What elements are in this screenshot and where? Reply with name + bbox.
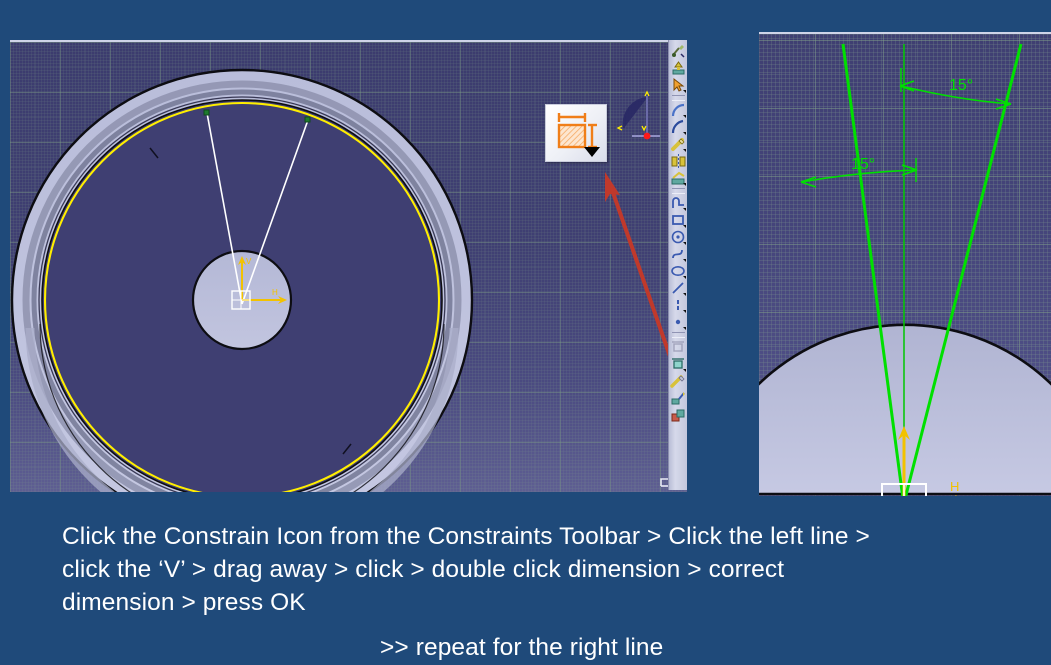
caption-block: Click the Constrain Icon from the Constr… [62, 520, 1002, 664]
tool-corner-icon[interactable] [670, 102, 687, 119]
caption-line-1: Click the Constrain Icon from the Constr… [62, 520, 1002, 553]
tool-select-icon[interactable] [670, 77, 687, 94]
tool-edit-multi-icon[interactable] [670, 390, 687, 407]
tool-trim-icon[interactable] [670, 136, 687, 153]
svg-text:H: H [272, 288, 278, 297]
caption-line-3: dimension > press OK [62, 586, 1002, 619]
tool-animate-icon[interactable] [670, 373, 687, 390]
caption-line-2: click the ‘V’ > drag away > click > doub… [62, 553, 1002, 586]
tool-profile-icon[interactable] [670, 195, 687, 212]
left-cad-viewport[interactable]: V H [10, 40, 687, 492]
angle-label-right: 15° [949, 77, 973, 94]
tool-project-3d-icon[interactable] [670, 170, 687, 187]
tool-ellipse-icon[interactable] [670, 263, 687, 280]
h-axis-label: H [950, 479, 959, 494]
angle-label-left: 15° [851, 156, 875, 173]
tool-output-feature-icon[interactable] [670, 60, 687, 77]
tool-constraint-icon[interactable] [670, 356, 687, 373]
tool-chamfer-icon[interactable] [670, 119, 687, 136]
toolbar-separator [672, 188, 685, 194]
toolbar-separator [672, 332, 685, 338]
tool-spline-icon[interactable] [670, 246, 687, 263]
v-lines-geometry: 15° 15° H [759, 34, 1051, 496]
tool-mirror-icon[interactable] [670, 153, 687, 170]
tool-sketch-analysis-icon[interactable] [670, 407, 687, 424]
rotation-compass[interactable] [614, 90, 662, 152]
constrain-icon-glyph [546, 105, 606, 161]
svg-text:V: V [246, 257, 252, 266]
right-cad-viewport[interactable]: 15° 15° H [759, 32, 1051, 496]
tool-constraint-defined-icon[interactable] [670, 339, 687, 356]
tool-rectangle-icon[interactable] [670, 212, 687, 229]
tool-circle-icon[interactable] [670, 229, 687, 246]
caption-line-4: >> repeat for the right line [62, 631, 1002, 664]
toolbar-separator [672, 95, 685, 101]
tool-point-icon[interactable] [670, 314, 687, 331]
tool-line-icon[interactable] [670, 280, 687, 297]
tool-sketch-tools-icon[interactable] [670, 43, 687, 60]
tool-axis-icon[interactable] [670, 297, 687, 314]
sketch-tools-toolbar[interactable] [668, 40, 687, 490]
constrain-icon[interactable] [545, 104, 607, 162]
slide-root: V H [0, 0, 1051, 665]
